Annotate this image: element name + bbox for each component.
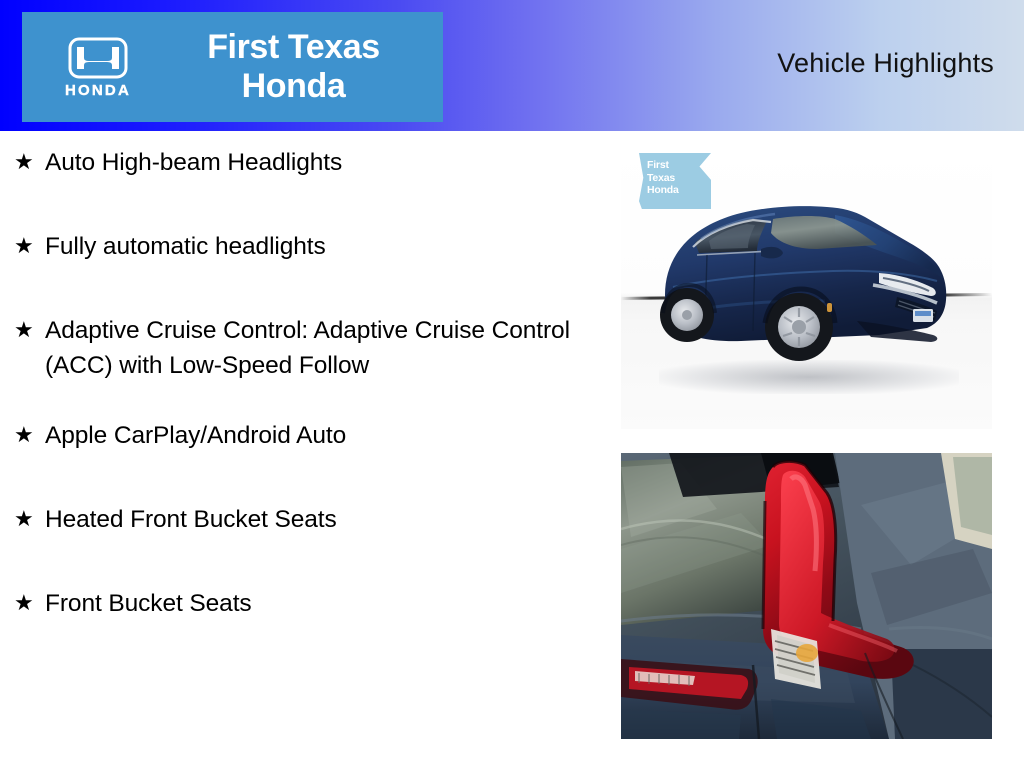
vehicle-exterior-photo: First Texas Honda [621, 145, 992, 429]
honda-h-emblem-icon [67, 36, 129, 80]
watermark-line-3: Honda [647, 184, 711, 197]
feature-label: Apple CarPlay/Android Auto [45, 418, 598, 453]
honda-wordmark: HONDA [65, 83, 131, 98]
list-item: ★ Front Bucket Seats [10, 586, 598, 621]
honda-brand-logo: HONDA [38, 36, 158, 98]
taillight-illustration [621, 453, 992, 739]
feature-label: Adaptive Cruise Control: Adaptive Cruise… [45, 313, 598, 383]
page-header: HONDA First Texas Honda Vehicle Highligh… [0, 0, 1024, 131]
star-bullet-icon: ★ [10, 502, 45, 535]
slide-body: ★ Auto High-beam Headlights ★ Fully auto… [0, 131, 1024, 768]
list-item: ★ Apple CarPlay/Android Auto [10, 418, 598, 453]
list-item: ★ Auto High-beam Headlights [10, 145, 598, 180]
page-title: Vehicle Highlights [777, 48, 994, 79]
list-item: ★ Heated Front Bucket Seats [10, 502, 598, 537]
list-item: ★ Fully automatic headlights [10, 229, 598, 264]
dealer-watermark: First Texas Honda [639, 153, 711, 209]
feature-label: Front Bucket Seats [45, 586, 598, 621]
vehicle-features-list: ★ Auto High-beam Headlights ★ Fully auto… [10, 145, 598, 670]
star-bullet-icon: ★ [10, 586, 45, 619]
feature-label: Fully automatic headlights [45, 229, 598, 264]
star-bullet-icon: ★ [10, 229, 45, 262]
star-bullet-icon: ★ [10, 145, 45, 178]
feature-label: Auto High-beam Headlights [45, 145, 598, 180]
dealer-logo-panel: HONDA First Texas Honda [22, 12, 443, 122]
dealer-name-text: First Texas Honda [158, 28, 443, 106]
list-item: ★ Adaptive Cruise Control: Adaptive Crui… [10, 313, 598, 383]
vehicle-taillight-photo [621, 453, 992, 739]
watermark-line-2: Texas [647, 172, 711, 185]
star-bullet-icon: ★ [10, 418, 45, 451]
feature-label: Heated Front Bucket Seats [45, 502, 598, 537]
star-bullet-icon: ★ [10, 313, 45, 346]
